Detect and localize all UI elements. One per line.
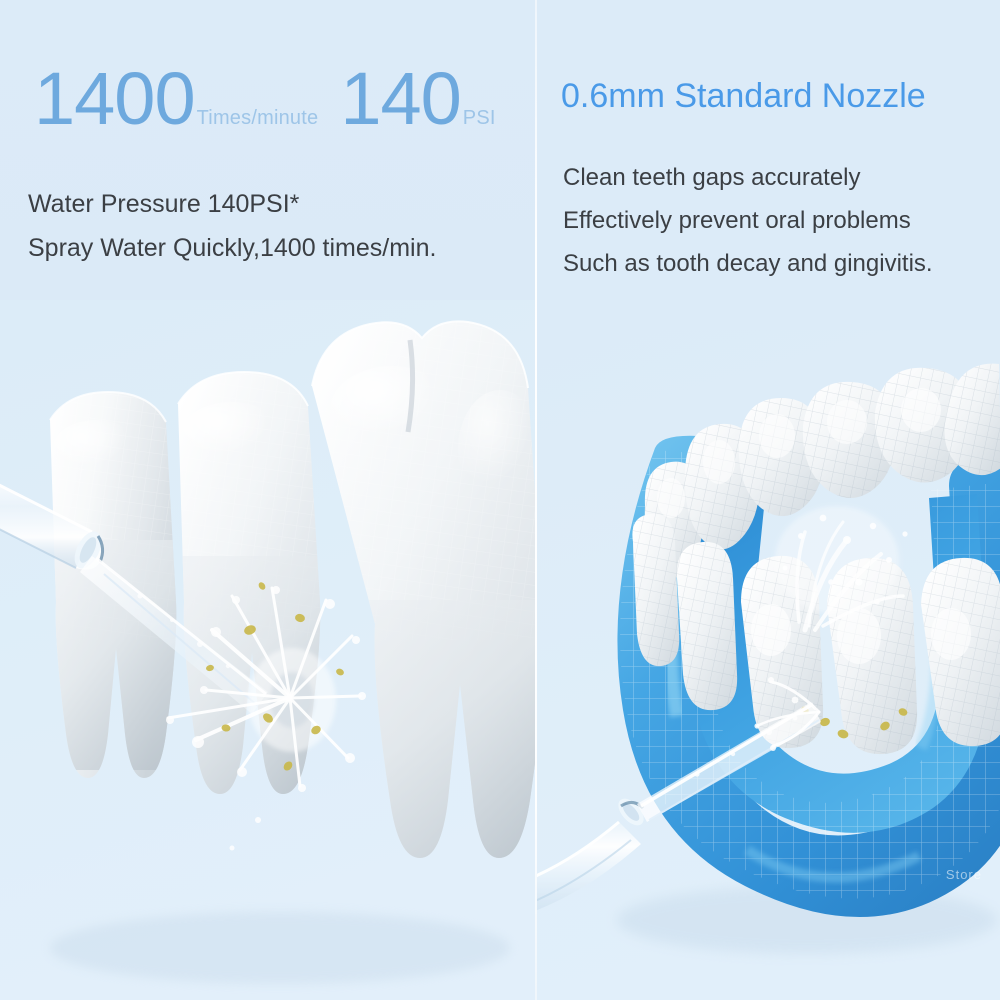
- spray-rate-unit: Times/minute: [197, 108, 319, 128]
- left-body-text: Water Pressure 140PSI* Spray Water Quick…: [28, 182, 436, 270]
- right-panel: Store 0.6mm Standard Nozzle Clean teeth …: [537, 0, 1000, 1000]
- pressure-unit: PSI: [463, 108, 496, 128]
- right-heading: 0.6mm Standard Nozzle: [561, 76, 926, 116]
- right-illustration: [537, 330, 1000, 1000]
- pressure-value: 140: [340, 62, 460, 136]
- spray-rate-value: 1400: [34, 62, 195, 136]
- left-headline: 1400 Times/minute 140 PSI: [34, 62, 496, 136]
- tooth-lower-1: [632, 514, 679, 666]
- right-body-line-3: Such as tooth decay and gingivitis.: [563, 242, 933, 285]
- infographic-page: 1400 Times/minute 140 PSI Water Pressure…: [0, 0, 1000, 1000]
- left-illustration: [0, 300, 535, 1000]
- right-body-text: Clean teeth gaps accurately Effectively …: [563, 156, 933, 285]
- right-body-line-2: Effectively prevent oral problems: [563, 199, 933, 242]
- left-body-line-2: Spray Water Quickly,1400 times/min.: [28, 226, 436, 270]
- tooth-lower-2: [677, 542, 737, 710]
- panel-divider: [535, 0, 537, 1000]
- left-body-line-1: Water Pressure 140PSI*: [28, 182, 436, 226]
- left-panel: 1400 Times/minute 140 PSI Water Pressure…: [0, 0, 535, 1000]
- right-body-line-1: Clean teeth gaps accurately: [563, 156, 933, 199]
